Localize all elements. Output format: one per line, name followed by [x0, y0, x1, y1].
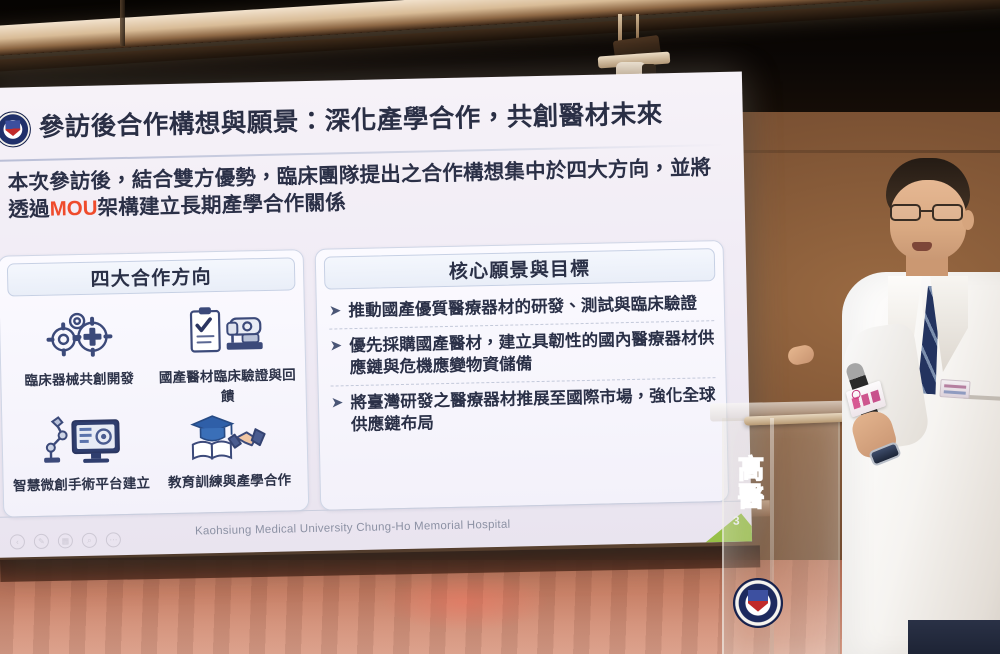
goal-item: ➤ 將臺灣研發之醫療器材推展至國際市場，強化全球供應鏈布局 — [331, 377, 717, 442]
direction-item-1: 臨床器械共創開發 — [4, 301, 154, 409]
bullet-text: 本次參訪後，結合雙方優勢，臨床團隊提出之合作構想集中於四大方向，並將透過MOU架… — [7, 154, 722, 225]
bullet-text-part2: 架構建立長期產學合作關係 — [97, 192, 346, 220]
floor-light-reflection — [380, 572, 550, 632]
podium-char-1: 高 — [738, 456, 764, 482]
direction-item-2: 國產醫材臨床驗證與回饋 — [152, 298, 302, 406]
eyeglasses-icon — [888, 204, 968, 221]
mouth — [912, 242, 932, 251]
arrow-marker-icon: ➤ — [329, 301, 342, 321]
arrow-marker-icon: ➤ — [330, 336, 343, 356]
presentation-toolbar[interactable]: ‹ ✎ ▦ ⌕ ⋯ — [10, 532, 121, 549]
goal-text-3: 將臺灣研發之醫療器材推展至國際市場，強化全球供應鏈布局 — [350, 385, 716, 437]
more-options-icon[interactable]: ⋯ — [106, 532, 121, 547]
projection-screen: 參訪後合作構想與願景：深化產學合作，共創醫材未來 • 本次參訪後，結合雙方優勢，… — [0, 72, 752, 558]
direction-item-3: 智慧微創手術平台建立 — [6, 406, 156, 504]
presenter-speaker — [812, 150, 1000, 654]
slide-bullet: • 本次參訪後，結合雙方優勢，臨床團隊提出之合作構想集中於四大方向，並將透過MO… — [0, 154, 723, 225]
direction-label-2: 國產醫材臨床驗證與回饋 — [153, 363, 302, 406]
slide-title: 參訪後合作構想與願景：深化產學合作，共創醫材未來 — [39, 102, 663, 141]
direction-label-1: 臨床器械共創開發 — [24, 367, 134, 389]
goal-list: ➤ 推動國產優質醫療器材的研發、測試與臨床驗證 ➤ 優先採購國產醫材，建立具韌性… — [316, 281, 726, 443]
pen-icon[interactable]: ✎ — [34, 534, 49, 549]
goal-text-1: 推動國產優質醫療器材的研發、測試與臨床驗證 — [348, 294, 697, 324]
kmu-seal-logo-icon — [0, 111, 31, 148]
goal-item: ➤ 優先採購國產醫材，建立具韌性的國內醫療器材供應鏈與危機應變物資儲備 — [329, 320, 715, 385]
direction-label-4: 教育訓練與產學合作 — [168, 468, 292, 491]
name-badge — [939, 379, 970, 399]
robot-arm-monitor-icon — [38, 407, 123, 471]
podium-kmu-seal-logo-icon — [733, 578, 783, 628]
trousers — [908, 620, 1000, 654]
gears-medical-cross-icon — [41, 302, 116, 366]
direction-label-3: 智慧微創手術平台建立 — [13, 472, 150, 495]
left-panel-heading: 四大合作方向 — [90, 262, 212, 292]
left-panel-four-directions: 四大合作方向 — [0, 249, 309, 518]
prev-slide-icon[interactable]: ‹ — [10, 534, 25, 549]
arrow-marker-icon: ➤ — [331, 393, 344, 413]
screenshot-stage: 參訪後合作構想與願景：深化產學合作，共創醫材未來 • 本次參訪後，結合雙方優勢，… — [0, 0, 1000, 654]
graduation-cap-book-handshake-icon — [186, 404, 271, 468]
grid-view-icon[interactable]: ▦ — [58, 533, 73, 548]
goal-text-2: 優先採購國產醫材，建立具韌性的國內醫療器材供應鏈與危機應變物資儲備 — [349, 328, 715, 380]
bullet-marker: • — [0, 170, 1, 195]
direction-icon-grid: 臨床器械共創開發 — [0, 290, 308, 511]
ceiling-rail — [120, 0, 125, 46]
clipboard-checklist-testing-machine-icon — [186, 299, 267, 363]
podium-label: 高 醫 — [728, 456, 774, 510]
zoom-icon[interactable]: ⌕ — [82, 533, 97, 548]
right-panel-heading: 核心願景與目標 — [449, 254, 591, 284]
bullet-highlight-mou: MOU — [49, 197, 97, 221]
direction-item-4: 教育訓練與產學合作 — [154, 403, 304, 501]
podium-char-2: 醫 — [738, 484, 764, 510]
